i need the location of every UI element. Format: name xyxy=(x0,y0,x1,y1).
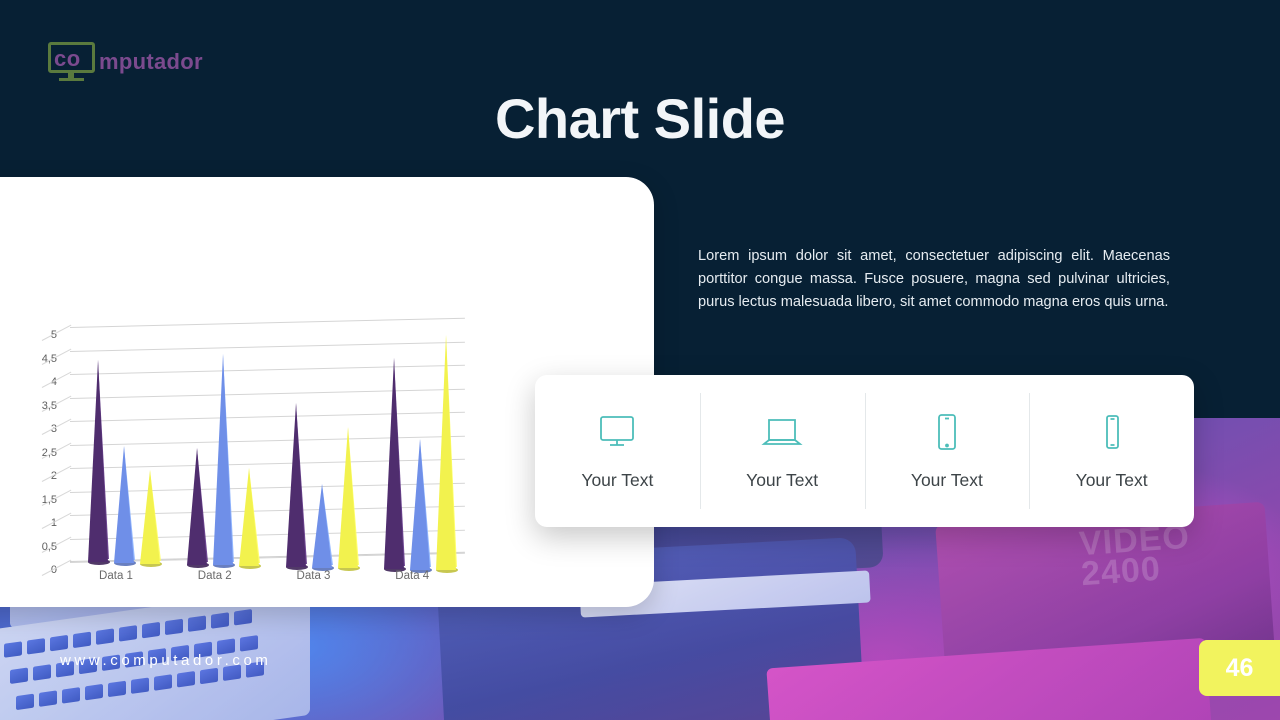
chart-bar-face xyxy=(410,439,430,570)
chart-bar xyxy=(436,335,456,570)
chart-depth-line xyxy=(42,513,72,529)
monitor-base xyxy=(59,78,84,81)
chart-bar-face xyxy=(213,354,233,565)
chart-x-tick: Data 4 xyxy=(377,570,447,582)
page-number-badge: 46 xyxy=(1199,640,1280,696)
chart-bar xyxy=(88,360,108,562)
chart-bar xyxy=(410,438,430,570)
footer-website-url[interactable]: www.computador.com xyxy=(60,652,272,669)
chart-bar-face xyxy=(187,448,207,565)
feature-card-label: Your Text xyxy=(581,470,653,491)
chart-bar-face xyxy=(88,360,108,562)
chart-bar xyxy=(384,358,404,570)
chart-bar-face xyxy=(286,403,306,567)
feature-card-4[interactable]: Your Text xyxy=(1029,375,1194,527)
chart-bar xyxy=(239,467,259,566)
chart-bar xyxy=(312,483,332,568)
chart-x-tick: Data 3 xyxy=(279,570,349,582)
desktop-monitor-icon xyxy=(595,412,639,452)
chart-bar-face xyxy=(338,427,358,568)
chart-depth-line xyxy=(42,489,72,505)
feature-card-2[interactable]: Your Text xyxy=(700,375,865,527)
feature-card-label: Your Text xyxy=(746,470,818,491)
feature-card-3[interactable]: Your Text xyxy=(865,375,1030,527)
chart-plot xyxy=(70,327,470,562)
chart-area: 00,511,522,533,544,55 Data 1Data 2Data 3… xyxy=(65,237,545,597)
page-title: Chart Slide xyxy=(0,86,1280,151)
feature-card-row: Your TextYour TextYour TextYour Text xyxy=(535,375,1194,527)
chart-x-tick: Data 1 xyxy=(81,570,151,582)
chart-bar xyxy=(114,446,134,564)
monitor-icon: co xyxy=(48,42,95,82)
chart-bar xyxy=(213,354,233,566)
chart-bar-face xyxy=(114,446,134,563)
chart-depth-line xyxy=(42,348,72,364)
feature-card-label: Your Text xyxy=(1076,470,1148,491)
chart-sidewall xyxy=(42,327,72,577)
chart-depth-line xyxy=(42,536,72,552)
chart-depth-line xyxy=(42,442,72,458)
chart-bar-face xyxy=(312,484,332,568)
chart-depth-line xyxy=(42,466,72,482)
chart-bar-face xyxy=(140,470,160,564)
chart-bar-face xyxy=(436,335,456,570)
logo-text-inside: co xyxy=(54,46,81,72)
chart-x-tick: Data 2 xyxy=(180,570,250,582)
logo-text-rest: mputador xyxy=(99,49,203,75)
chart-bar xyxy=(286,402,306,567)
tablet-icon xyxy=(925,412,969,452)
chart-bar-face xyxy=(384,358,404,569)
laptop-icon xyxy=(760,412,804,452)
chart-depth-line xyxy=(42,419,72,435)
chart-depth-line xyxy=(42,395,72,411)
feature-card-label: Your Text xyxy=(911,470,983,491)
chart-bar-face xyxy=(239,468,259,566)
feature-card-1[interactable]: Your Text xyxy=(535,375,700,527)
chart-bar xyxy=(187,447,207,565)
chart-depth-line xyxy=(42,325,72,341)
chart-bar xyxy=(140,470,160,564)
brand-logo[interactable]: co mputador xyxy=(48,40,203,84)
smartphone-icon xyxy=(1090,412,1134,452)
slide-canvas: Model 8032 VIDEO2400 co mputador Chart S… xyxy=(0,0,1280,720)
body-paragraph: Lorem ipsum dolor sit amet, consectetuer… xyxy=(698,245,1170,315)
chart-bars xyxy=(70,327,470,562)
chart-depth-line xyxy=(42,372,72,388)
chart-bar xyxy=(338,427,358,568)
chart-depth-line xyxy=(42,560,72,576)
